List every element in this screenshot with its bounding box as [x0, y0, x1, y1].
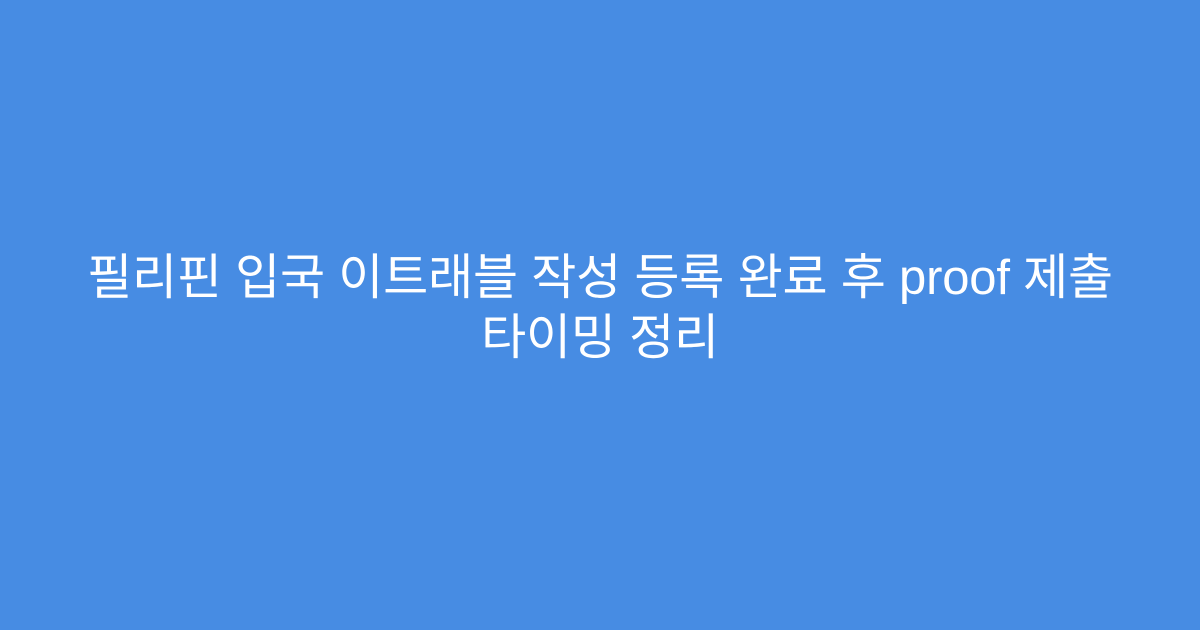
page-title: 필리핀 입국 이트래블 작성 등록 완료 후 proof 제출 타이밍 정리	[55, 248, 1145, 368]
og-card-canvas: 필리핀 입국 이트래블 작성 등록 완료 후 proof 제출 타이밍 정리	[0, 0, 1200, 630]
title-block: 필리핀 입국 이트래블 작성 등록 완료 후 proof 제출 타이밍 정리	[55, 248, 1145, 368]
